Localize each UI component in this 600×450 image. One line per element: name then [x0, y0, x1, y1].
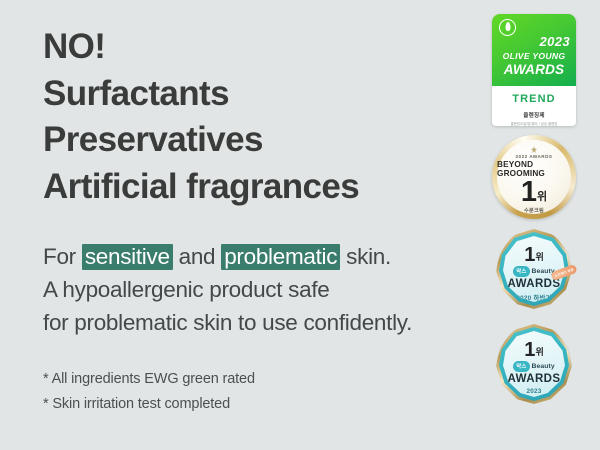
- badge-beauty-awards-2020: 1 위 악스 Beauty AWARDS 2020 하반기 악스 어워드 스킨케…: [492, 228, 576, 314]
- promo-banner: NO! Surfactants Preservatives Artificial…: [0, 0, 600, 450]
- body-line-2: A hypoallergenic product safe: [43, 273, 483, 306]
- highlight-sensitive: sensitive: [82, 244, 173, 270]
- badge-beauty-awards-2023: 1 위 악스 Beauty AWARDS 2023 악스: [492, 323, 576, 409]
- beauty-awards-2020-rank-number: 1: [524, 246, 534, 264]
- beauty-awards-2020-logo: 악스 Beauty: [513, 266, 555, 277]
- body-line-1-mid: and: [173, 244, 222, 269]
- footnotes: * All ingredients EWG green rated * Skin…: [43, 367, 483, 417]
- page-title: NO! Surfactants Preservatives Artificial…: [43, 24, 483, 210]
- beauty-awards-2020-awards: AWARDS: [508, 278, 561, 290]
- olive-young-brand-line-2: AWARDS: [492, 62, 576, 77]
- beyond-grooming-year: 2022 AWARDS: [516, 154, 553, 159]
- highlight-problematic: problematic: [221, 244, 340, 270]
- beauty-awards-2020-rank-suffix: 위: [536, 250, 544, 263]
- body-line-1-pre: For: [43, 244, 82, 269]
- beauty-awards-2023-logo-pill: 악스: [513, 361, 529, 372]
- olive-young-korean-label: 클렌징제: [523, 111, 544, 119]
- beauty-awards-2020-footer: 악스 어워드: [525, 309, 544, 314]
- olive-young-category: TREND: [512, 93, 555, 105]
- olive-young-brand-line-1: OLIVE YOUNG: [492, 51, 576, 61]
- beauty-awards-2023-logo-word: Beauty: [532, 363, 555, 370]
- beauty-awards-2023-rank: 1 위: [524, 341, 544, 359]
- awards-badge-column: 2023 OLIVE YOUNG AWARDS TREND 클렌징제 클렌징오일…: [480, 14, 588, 409]
- copy-block: NO! Surfactants Preservatives Artificial…: [43, 24, 483, 417]
- olive-young-green-panel: 2023 OLIVE YOUNG AWARDS: [492, 14, 576, 86]
- beyond-grooming-rank-suffix: 위: [537, 188, 547, 204]
- badge-olive-young-awards: 2023 OLIVE YOUNG AWARDS TREND 클렌징제 클렌징오일…: [492, 14, 576, 126]
- beyond-grooming-rank-number: 1: [521, 179, 536, 206]
- beauty-awards-2020-logo-pill: 악스: [513, 266, 529, 277]
- beauty-awards-2023-year: 2023: [526, 388, 541, 395]
- olive-young-white-panel: TREND 클렌징제 클렌징오일/밤/워터 / 남성 클렌징: [492, 86, 576, 126]
- beauty-awards-2023-rank-number: 1: [524, 341, 534, 359]
- headline-line-2: Surfactants: [43, 71, 483, 118]
- headline-line-3: Preservatives: [43, 117, 483, 164]
- gold-inner-face: 2022 AWARDS BEYOND GROOMING 1 위 수분크림: [497, 140, 571, 214]
- beauty-awards-2023-awards: AWARDS: [508, 373, 561, 385]
- footnote-1: * All ingredients EWG green rated: [43, 367, 483, 392]
- olive-young-year: 2023: [539, 34, 570, 49]
- body-line-1: For sensitive and problematic skin.: [43, 240, 483, 273]
- beyond-grooming-rank: 1 위: [521, 179, 547, 206]
- beauty-awards-2023-logo: 악스 Beauty: [513, 361, 555, 372]
- olive-young-korean-sublabel: 클렌징오일/밤/워터 / 남성 클렌징: [511, 121, 558, 126]
- footnote-2: * Skin irritation test completed: [43, 392, 483, 417]
- body-copy: For sensitive and problematic skin. A hy…: [43, 240, 483, 339]
- headline-line-4: Artificial fragrances: [43, 164, 483, 211]
- olive-young-o-icon: [499, 19, 516, 36]
- star-crest-icon: [531, 146, 537, 153]
- beyond-grooming-korean-sublabel: 수분크림: [524, 207, 544, 214]
- badge-beyond-grooming: 2022 AWARDS BEYOND GROOMING 1 위 수분크림: [492, 135, 576, 219]
- headline-line-1: NO!: [43, 24, 483, 71]
- beauty-awards-2023-rank-suffix: 위: [536, 345, 544, 358]
- beauty-awards-2020-rank: 1 위: [524, 246, 544, 264]
- body-line-3: for problematic skin to use confidently.: [43, 306, 483, 339]
- body-line-1-post: skin.: [340, 244, 391, 269]
